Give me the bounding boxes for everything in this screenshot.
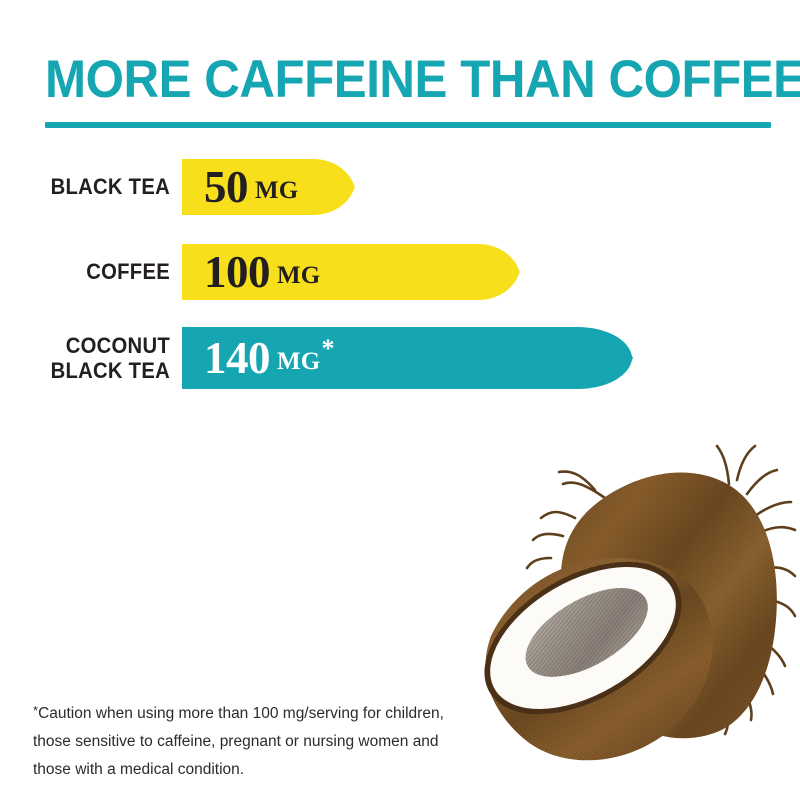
footnote-text: Caution when using more than 100 mg/serv…: [33, 705, 444, 778]
bar-label-line: BLACK TEA: [14, 174, 170, 199]
bar-value-coffee: 100MG: [204, 244, 320, 300]
bar-label-line: BLACK TEA: [14, 358, 170, 383]
bar-label-coconut-black-tea: COCONUT BLACK TEA: [14, 333, 170, 383]
bar-value-unit: MG: [255, 178, 298, 203]
page-title: MORE CAFFEINE THAN COFFEE: [45, 52, 775, 108]
table-row: BLACK TEA 50MG: [0, 159, 800, 215]
bar-value-number: 100: [204, 250, 270, 295]
bar-label-black-tea: BLACK TEA: [14, 174, 170, 199]
coconut-illustration: [455, 440, 800, 790]
footnote: *Caution when using more than 100 mg/ser…: [33, 697, 453, 784]
bar-coconut-black-tea: 140MG*: [182, 327, 633, 389]
bar-value-number: 140: [204, 336, 270, 381]
title-underline-rule: [45, 122, 771, 128]
coconut-image: [455, 440, 800, 790]
bar-value-number: 50: [204, 165, 248, 210]
bar-label-line: COCONUT: [14, 333, 170, 358]
table-row: COCONUT BLACK TEA 140MG*: [0, 327, 800, 389]
bar-label-line: COFFEE: [14, 259, 170, 284]
bar-coffee: 100MG: [182, 244, 520, 300]
caffeine-bar-chart: BLACK TEA 50MG COFFEE 100MG COCONUT: [0, 150, 800, 400]
table-row: COFFEE 100MG: [0, 244, 800, 300]
bar-value-coconut-black-tea: 140MG*: [204, 327, 334, 389]
bar-value-unit: MG: [277, 263, 320, 288]
bar-value-black-tea: 50MG: [204, 159, 298, 215]
bar-value-footnote-marker: *: [321, 336, 334, 362]
headline-text: MORE CAFFEINE THAN COFFEE: [45, 52, 724, 108]
bar-value-unit: MG: [277, 349, 320, 374]
bar-black-tea: 50MG: [182, 159, 355, 215]
bar-label-coffee: COFFEE: [14, 259, 170, 284]
